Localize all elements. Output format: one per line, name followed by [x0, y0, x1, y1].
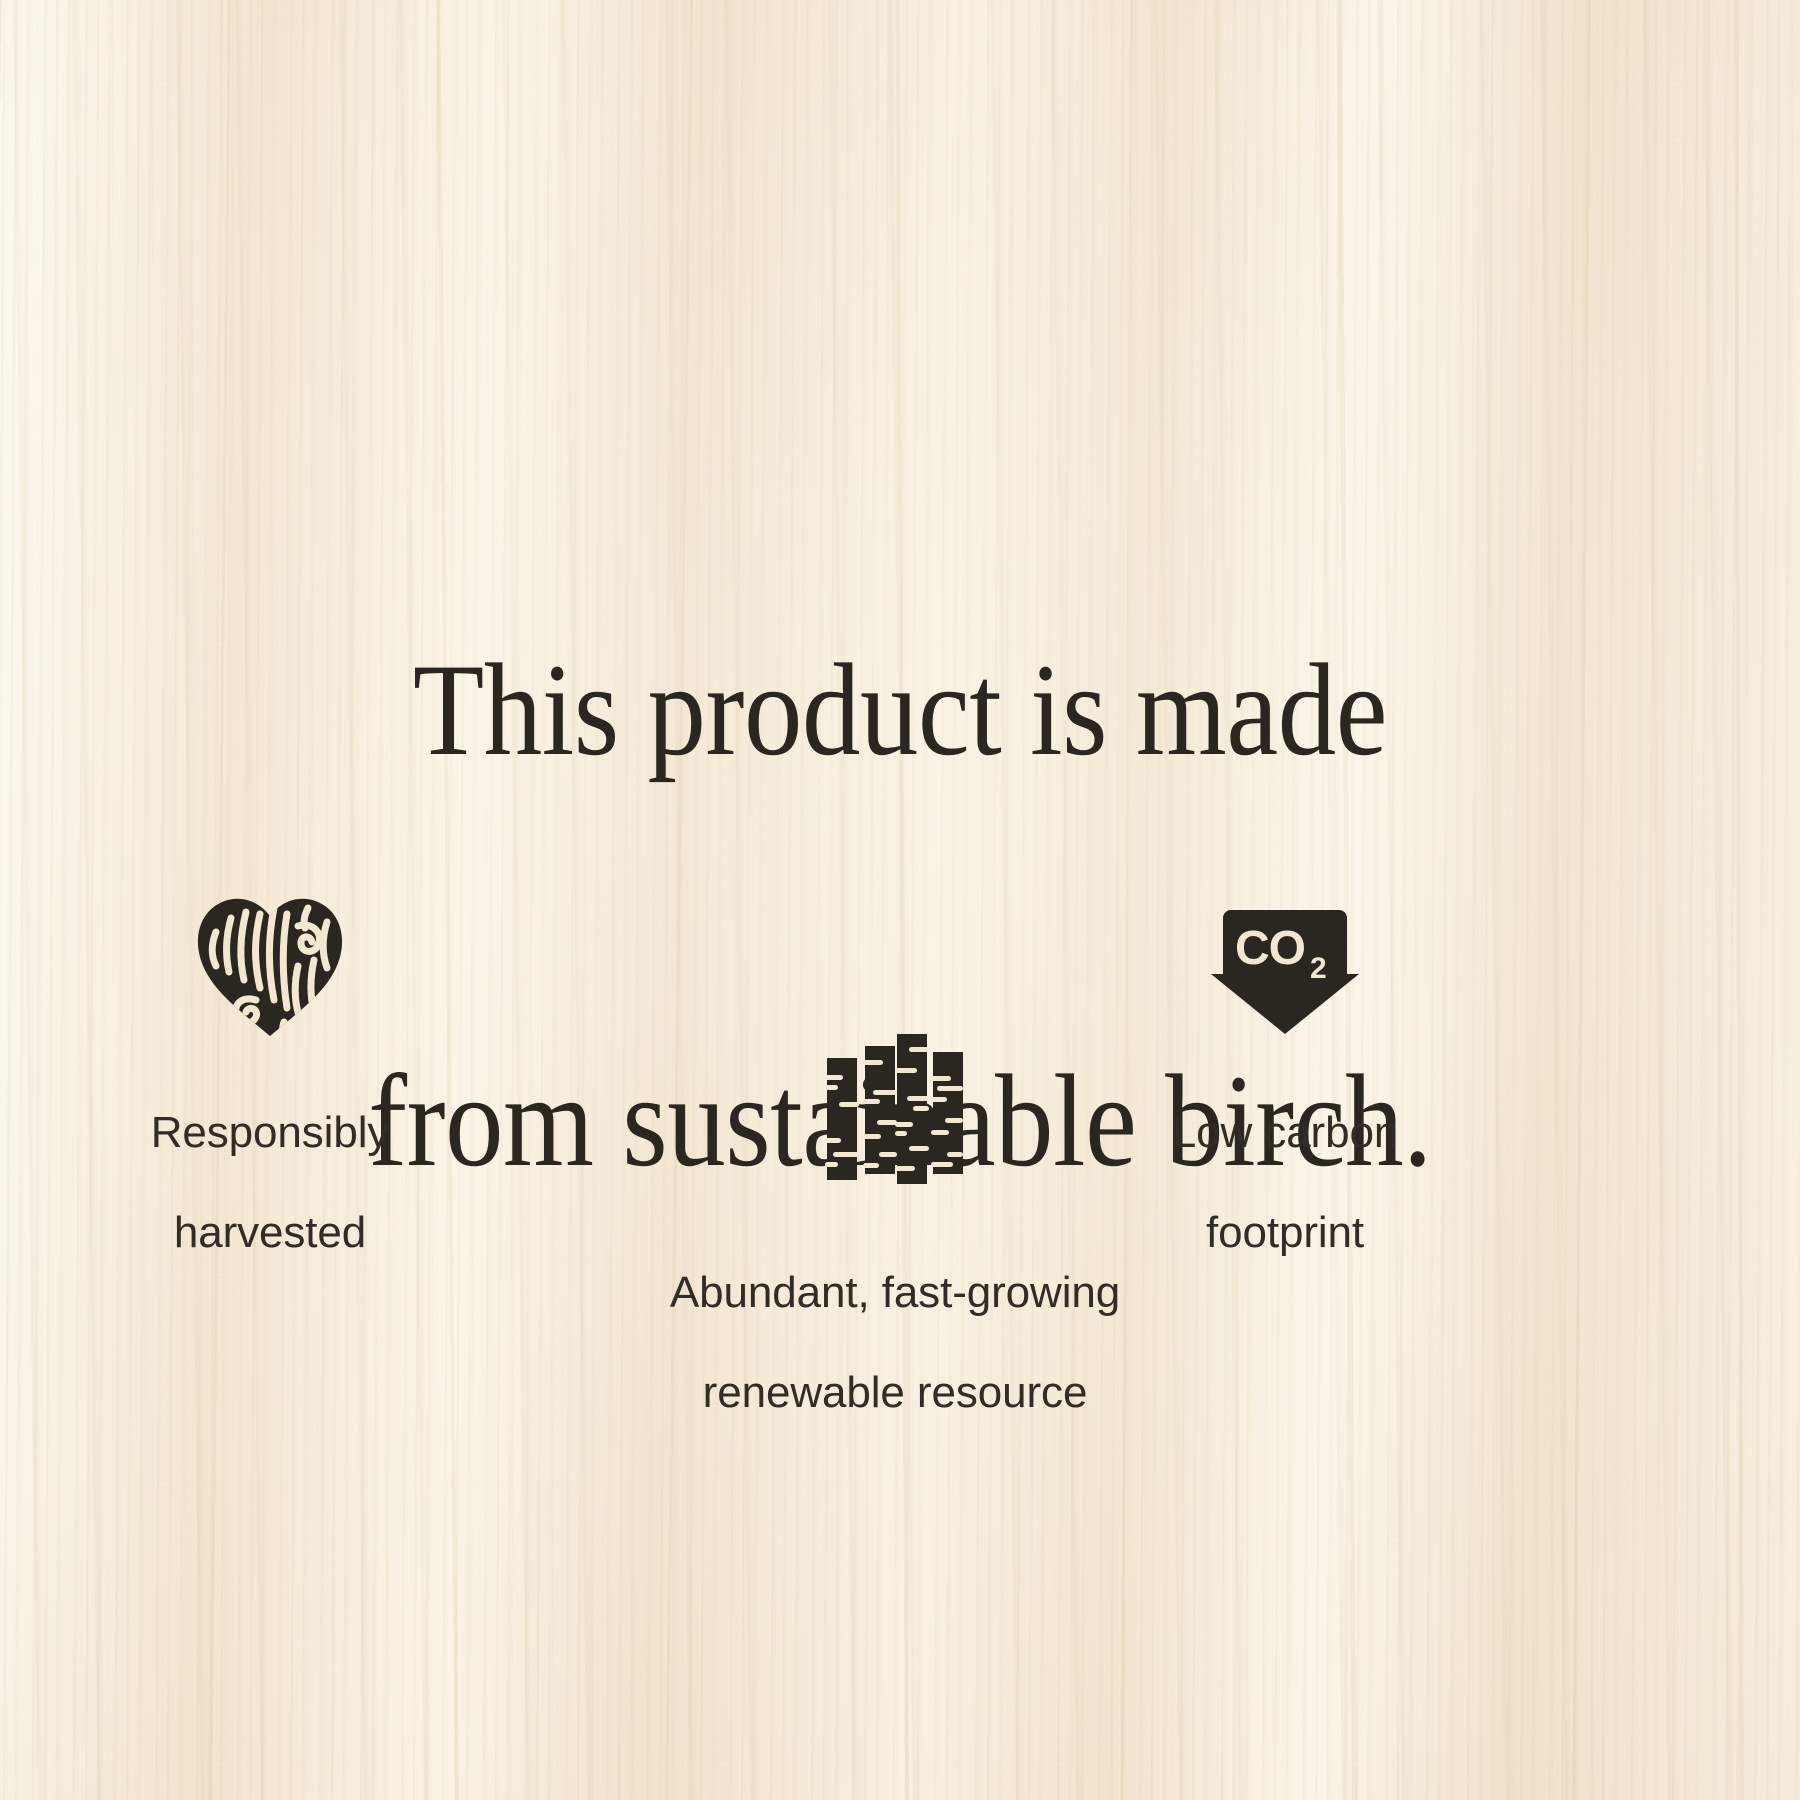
feature-caption-line-1: Responsibly: [151, 1108, 390, 1157]
feature-low-carbon-footprint: CO 2 Low carbon footprint: [1130, 888, 1440, 1259]
sustainable-birch-poster: This product is made from sustainable bi…: [0, 0, 1800, 1800]
headline-line-1: This product is made: [104, 641, 1697, 778]
feature-caption-line-1: Low carbon: [1172, 1108, 1398, 1157]
co2-down-arrow-icon: CO 2: [1211, 906, 1359, 1038]
feature-caption: Abundant, fast-growing renewable resourc…: [585, 1218, 1205, 1419]
feature-abundant-renewable: Abundant, fast-growing renewable resourc…: [585, 1028, 1205, 1419]
feature-responsibly-harvested: Responsibly harvested: [115, 888, 425, 1259]
wood-grain-heart-icon: [194, 896, 346, 1038]
feature-caption: Responsibly harvested: [115, 1058, 425, 1259]
feature-caption-line-1: Abundant, fast-growing: [670, 1268, 1120, 1317]
feature-row: Responsibly harvested: [0, 780, 1800, 1280]
feature-caption-line-2: footprint: [1206, 1208, 1364, 1257]
feature-icon-slot: [115, 888, 425, 1038]
feature-caption-line-2: harvested: [174, 1208, 366, 1257]
co2-icon-subscript: 2: [1310, 952, 1327, 985]
co2-icon-label: CO: [1235, 922, 1305, 975]
feature-caption-line-2: renewable resource: [703, 1368, 1088, 1417]
feature-icon-slot: CO 2: [1130, 888, 1440, 1038]
feature-icon-slot: [585, 1028, 1205, 1188]
birch-trunks-icon: [821, 1030, 969, 1188]
feature-caption: Low carbon footprint: [1130, 1058, 1440, 1259]
